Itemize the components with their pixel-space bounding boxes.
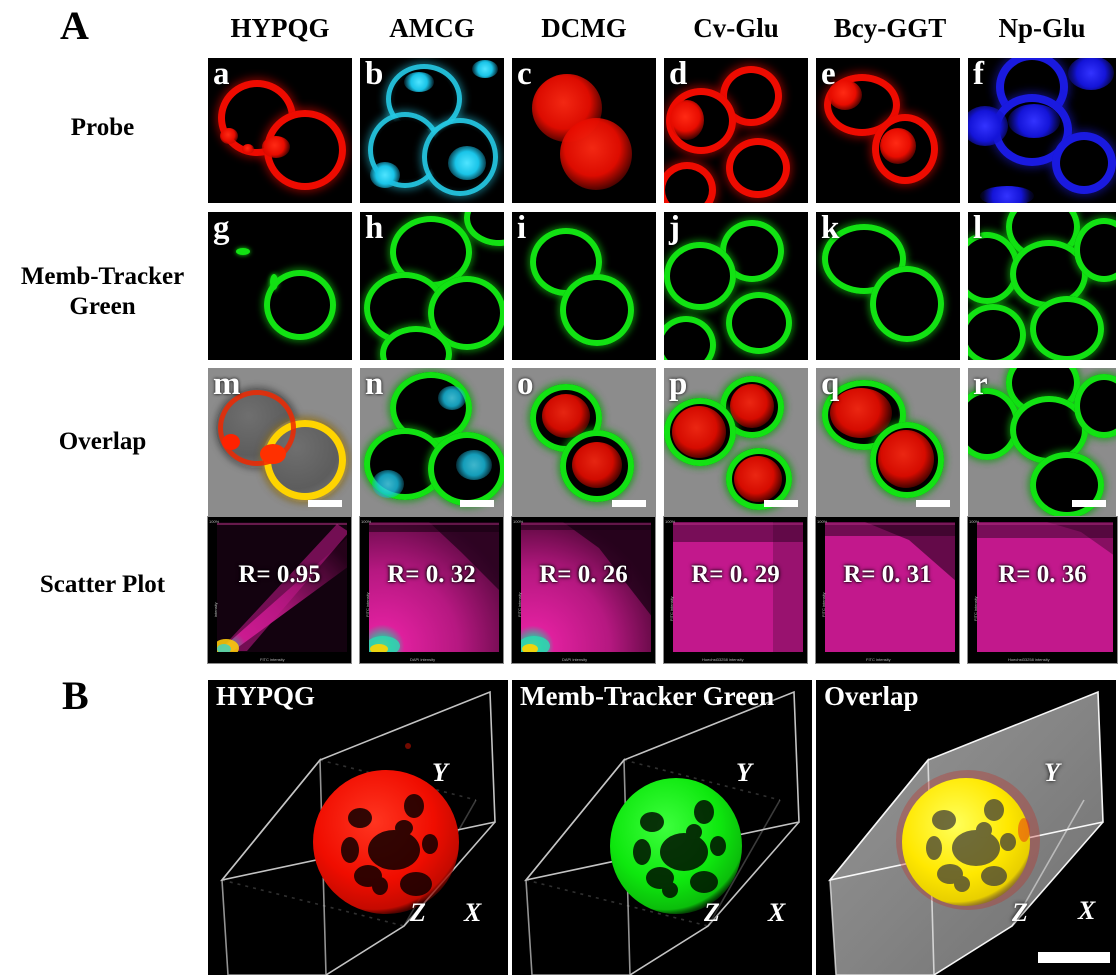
- cell-blob: [980, 186, 1034, 203]
- micrograph-l-memb-np-glu[interactable]: l: [968, 212, 1116, 360]
- render3d-title-hypqg: HYPQG: [216, 680, 315, 714]
- scatterplot-s-hypqg[interactable]: 100% intensity FITC intensity R= 0.95 s: [207, 516, 352, 664]
- axis-label-y: Y: [1044, 758, 1060, 788]
- render3d-content: [512, 680, 812, 975]
- cell-blob: [372, 470, 404, 498]
- micrograph-i-memb-dcmg[interactable]: i: [512, 212, 656, 360]
- cell-blob: [456, 450, 492, 480]
- cell-blob: [270, 274, 278, 290]
- scale-bar: [764, 500, 798, 507]
- panel-tag-c: c: [517, 58, 532, 94]
- cell-blob: [968, 304, 1026, 360]
- panel-tag-d: d: [669, 58, 687, 94]
- panel-letter-a: A: [60, 6, 89, 46]
- row-label-memb-line2: Green: [69, 293, 135, 320]
- scatterplot-x-np-glu[interactable]: 100% FITC intensity Hoechst33258 intensi…: [967, 516, 1118, 664]
- scatterplot-w-bcy-ggt[interactable]: 100% FITC intensity FITC intensity R= 0.…: [815, 516, 960, 664]
- scatter-axis-max-x: 100%: [969, 519, 979, 524]
- micrograph-f-probe-np-glu[interactable]: f: [968, 58, 1116, 203]
- cell-blob: [222, 434, 240, 450]
- panel-tag-b: b: [365, 58, 383, 94]
- axis-label-z: Z: [1012, 898, 1028, 928]
- micrograph-q-overlap-bcy-ggt[interactable]: q: [816, 368, 960, 516]
- panel-tag-f: f: [973, 58, 984, 94]
- scatter-axis-max-v: 100%: [665, 519, 675, 524]
- scatter-axis-max-s: 100%: [209, 519, 219, 524]
- micrograph-j-memb-cv-glu[interactable]: j: [664, 212, 808, 360]
- panel-tag-n: n: [365, 368, 383, 404]
- cell-blob: [878, 430, 934, 488]
- cell-blob: [1008, 104, 1060, 138]
- micrograph-m-overlap-hypqg[interactable]: m: [208, 368, 352, 516]
- scale-bar: [308, 500, 342, 507]
- column-header-amcg: AMCG: [360, 10, 504, 46]
- cell-blob: [1030, 296, 1104, 360]
- micrograph-b-probe-amcg[interactable]: b: [360, 58, 504, 203]
- cell-blob: [404, 72, 434, 92]
- cell-blob: [664, 242, 736, 310]
- scale-bar: [1072, 500, 1106, 507]
- scatter-r-value-x: R= 0. 36: [968, 561, 1117, 589]
- cell-blob: [1052, 132, 1116, 194]
- scatter-r-value-w: R= 0. 31: [816, 561, 959, 589]
- row-label-memb-tracker-green: Memb-Tracker Green: [0, 262, 205, 322]
- scatter-y-axis-label-x: FITC intensity: [973, 596, 978, 621]
- panel-tag-p: p: [669, 368, 687, 404]
- cell-blob: [870, 266, 944, 342]
- cell-blob: [472, 60, 498, 78]
- scatter-y-axis-label-s: intensity: [213, 602, 218, 617]
- scatter-x-axis-label-s: FITC intensity: [260, 657, 285, 662]
- cell-blob: [262, 136, 290, 158]
- panel-tag-l: l: [973, 212, 982, 248]
- axis-label-z: Z: [410, 898, 426, 928]
- micrograph-c-probe-dcmg[interactable]: c: [512, 58, 656, 203]
- cell-blob: [438, 386, 466, 410]
- render3d-title-memb: Memb-Tracker Green: [520, 680, 774, 714]
- scatter-r-value-u: R= 0. 26: [512, 561, 655, 589]
- scatter-axis-max-t: 100%: [361, 519, 371, 524]
- column-header-cv-glu: Cv-Glu: [664, 10, 808, 46]
- column-header-bcy-ggt: Bcy-GGT: [816, 10, 964, 46]
- render3d-content: [816, 680, 1116, 975]
- cell-blob: [726, 292, 792, 354]
- axis-label-x: X: [768, 898, 785, 928]
- cell-blob: [1068, 58, 1114, 90]
- axis-label-x: X: [1078, 896, 1095, 926]
- axis-label-y: Y: [736, 758, 752, 788]
- cell-blob: [726, 138, 790, 198]
- render3d-overlap[interactable]: Overlap Y Z X: [816, 680, 1116, 975]
- cell-blob: [664, 316, 716, 360]
- panel-tag-r: r: [973, 368, 988, 404]
- row-label-scatter-plot: Scatter Plot: [0, 570, 205, 600]
- scatter-x-axis-label-t: DAPI intensity: [410, 657, 435, 662]
- cell-blob: [542, 394, 590, 438]
- scatterplot-u-dcmg[interactable]: 100% FITC intensity DAPI intensity R= 0.…: [511, 516, 656, 664]
- cell-blob: [242, 144, 254, 154]
- scatter-r-value-s: R= 0.95: [208, 561, 351, 589]
- panel-tag-h: h: [365, 212, 383, 248]
- row-label-memb-line1: Memb-Tracker: [21, 263, 184, 290]
- scatter-x-axis-label-w: FITC intensity: [866, 657, 891, 662]
- cell-blob: [370, 162, 400, 188]
- panel-tag-m: m: [213, 368, 241, 404]
- micrograph-a-probe-hypqg[interactable]: a: [208, 58, 352, 203]
- cell-blob: [560, 118, 632, 190]
- cell-blob: [572, 442, 622, 488]
- panel-letter-b: B: [62, 676, 89, 716]
- render3d-title-overlap: Overlap: [824, 680, 919, 714]
- row-label-probe: Probe: [0, 113, 205, 143]
- cell-blob: [448, 146, 486, 180]
- render3d-content: [208, 680, 508, 975]
- column-header-dcmg: DCMG: [512, 10, 656, 46]
- column-header-hypqg: HYPQG: [208, 10, 352, 46]
- scale-bar: [1038, 952, 1110, 963]
- cell-blob: [672, 406, 726, 458]
- scatter-y-axis-label-u: FITC intensity: [517, 592, 522, 617]
- column-header-np-glu: Np-Glu: [968, 10, 1116, 46]
- scatter-x-axis-label-x: Hoechst33258 intensity: [1008, 657, 1050, 662]
- cell-blob: [236, 248, 250, 255]
- micrograph-g-memb-hypqg[interactable]: g: [208, 212, 352, 360]
- micrograph-p-overlap-cv-glu[interactable]: p: [664, 368, 808, 516]
- micrograph-k-memb-bcy-ggt[interactable]: k: [816, 212, 960, 360]
- axis-label-z: Z: [704, 898, 720, 928]
- scatter-x-axis-label-u: DAPI intensity: [562, 657, 587, 662]
- axis-label-y: Y: [432, 758, 448, 788]
- scatter-axis-max-u: 100%: [513, 519, 523, 524]
- micrograph-n-overlap-amcg[interactable]: n: [360, 368, 504, 516]
- panel-tag-a: a: [213, 58, 230, 94]
- cell-blob: [220, 128, 238, 144]
- panel-tag-j: j: [669, 212, 680, 248]
- panel-tag-e: e: [821, 58, 836, 94]
- row-label-overlap: Overlap: [0, 427, 205, 457]
- micrograph-h-memb-amcg[interactable]: h: [360, 212, 504, 360]
- panel-tag-o: o: [517, 368, 534, 404]
- cell-blob: [734, 456, 782, 502]
- cell-blob: [664, 162, 716, 203]
- cell-blob: [880, 128, 916, 164]
- figure-root: A HYPQG AMCG DCMG Cv-Glu Bcy-GGT Np-Glu …: [0, 0, 1119, 975]
- scale-bar: [612, 500, 646, 507]
- cell-blob: [730, 384, 774, 428]
- micrograph-r-overlap-np-glu[interactable]: r: [968, 368, 1116, 516]
- panel-tag-q: q: [821, 368, 839, 404]
- render3d-hypqg[interactable]: HYPQG Y Z X: [208, 680, 508, 975]
- scale-bar: [460, 500, 494, 507]
- panel-tag-g: g: [213, 212, 230, 248]
- micrograph-o-overlap-dcmg[interactable]: o: [512, 368, 656, 516]
- panel-tag-i: i: [517, 212, 526, 248]
- scatter-r-value-v: R= 0. 29: [664, 561, 807, 589]
- scatter-y-axis-label-t: FITC intensity: [365, 592, 370, 617]
- micrograph-e-probe-bcy-ggt[interactable]: e: [816, 58, 960, 203]
- cell-blob: [260, 444, 286, 464]
- cell-blob: [560, 274, 634, 346]
- micrograph-d-probe-cv-glu[interactable]: d: [664, 58, 808, 203]
- scatter-axis-max-w: 100%: [817, 519, 827, 524]
- scatterplot-t-amcg[interactable]: 100% FITC intensity DAPI intensity R= 0.…: [359, 516, 504, 664]
- scatter-x-axis-label-v: Hoechst33258 intensity: [702, 657, 744, 662]
- cell-blob: [670, 100, 704, 140]
- scatter-y-axis-label-v: FITC intensity: [669, 596, 674, 621]
- scatter-y-axis-label-w: FITC intensity: [821, 592, 826, 617]
- panel-tag-k: k: [821, 212, 839, 248]
- scatterplot-v-cv-glu[interactable]: 100% FITC intensity Hoechst33258 intensi…: [663, 516, 808, 664]
- axis-label-x: X: [464, 898, 481, 928]
- scale-bar: [916, 500, 950, 507]
- render3d-memb-tracker-green[interactable]: Memb-Tracker Green Y Z X: [512, 680, 812, 975]
- scatter-r-value-t: R= 0. 32: [360, 561, 503, 589]
